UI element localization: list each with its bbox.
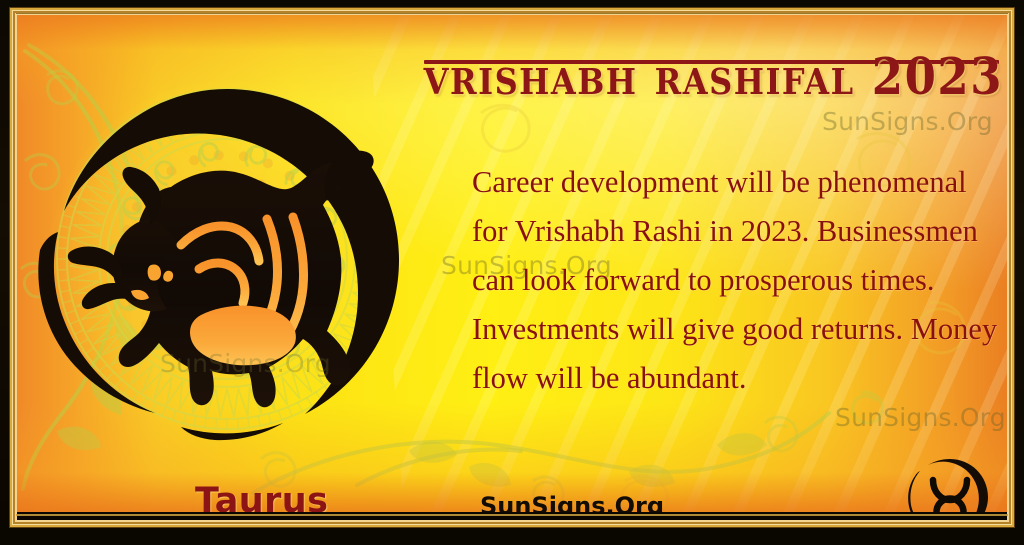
page-title: vrishabh rashifal 2023	[413, 48, 1003, 102]
watermark: SunSigns.Org	[835, 403, 1006, 432]
horoscope-poster: vrishabh rashifal 2023 Career developmen…	[0, 0, 1024, 545]
horoscope-body-text: Career development will be phenomenal fo…	[472, 158, 1000, 403]
watermark: SunSigns.Org	[822, 107, 993, 136]
brand-name: SunSigns.Org	[137, 492, 1007, 512]
taurus-bull-icon	[31, 69, 423, 461]
poster-canvas: vrishabh rashifal 2023 Career developmen…	[17, 15, 1007, 512]
taurus-glyph-icon	[907, 454, 993, 512]
page-title-text: vrishabh rashifal 2023	[424, 42, 1003, 102]
